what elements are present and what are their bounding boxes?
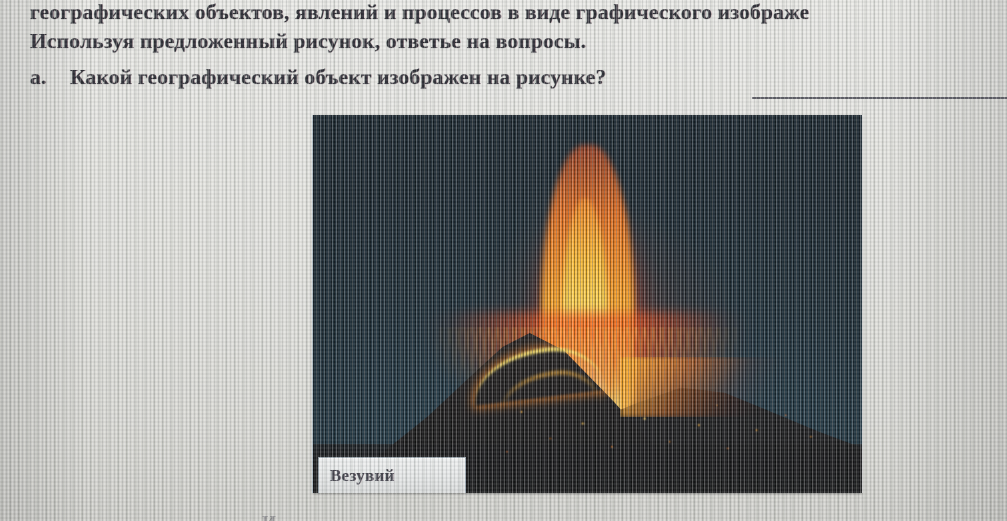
photo-canvas	[313, 115, 862, 493]
question-line-a: a.Какой географический объект изображен …	[30, 62, 606, 92]
bottom-cut-text: И	[262, 512, 276, 521]
instruction-line-2: Используя предложенный рисунок, ответье …	[30, 27, 586, 55]
instruction-line-1: географических объектов, явлений и проце…	[30, 0, 809, 26]
question-text: Какой географический объект изображен на…	[70, 65, 606, 89]
answer-blank-line[interactable]	[752, 97, 1007, 99]
glowing-ejecta	[478, 387, 840, 470]
figure-caption-box: Везувий	[318, 457, 466, 493]
worksheet-page: географических объектов, явлений и проце…	[0, 0, 1007, 521]
figure-volcano-photo: Везувий	[313, 115, 862, 493]
figure-caption-label: Везувий	[330, 466, 395, 486]
question-marker: a.	[30, 62, 70, 92]
